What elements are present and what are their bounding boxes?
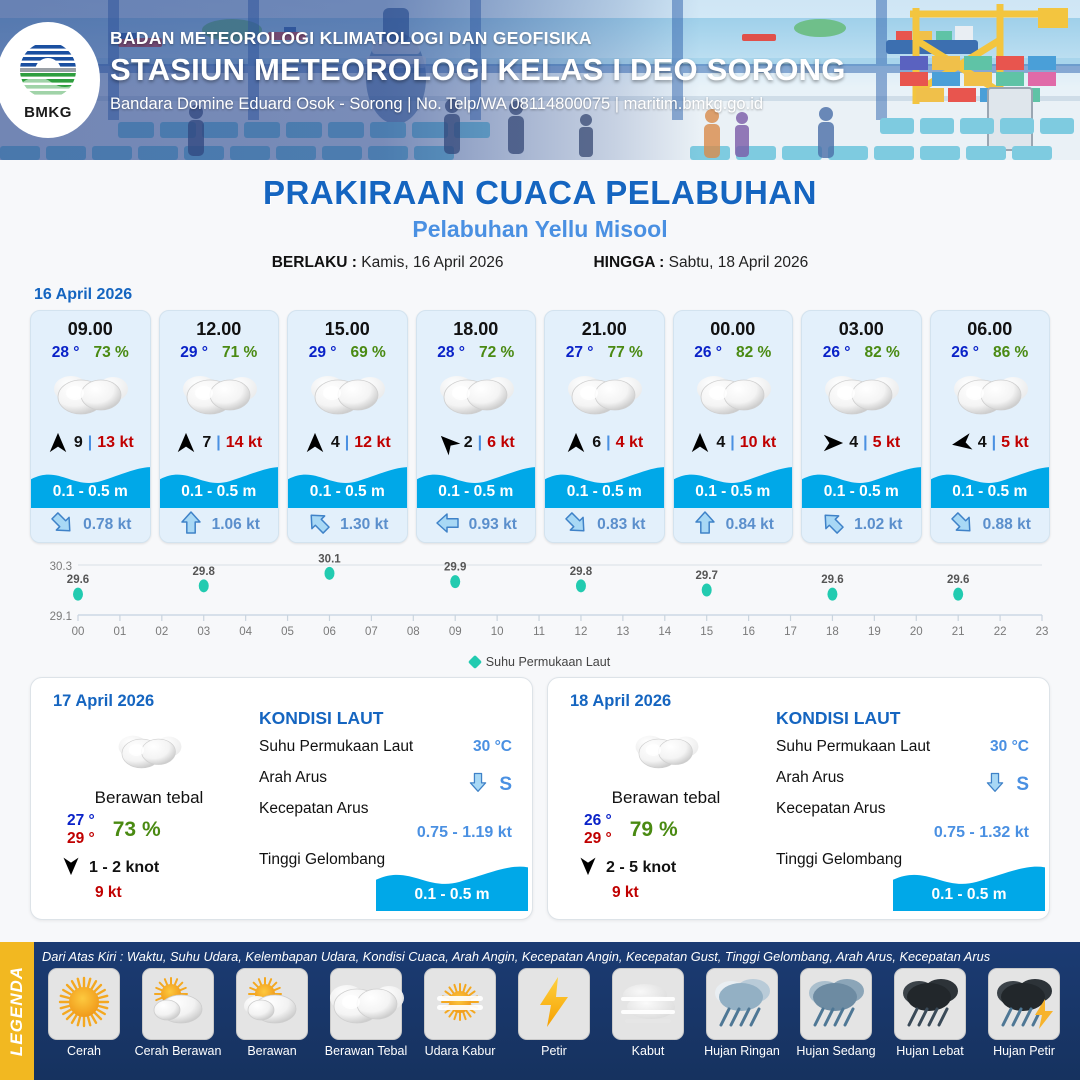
card-wind-separator: | xyxy=(992,434,996,452)
card-current-speed: 1.06 kt xyxy=(212,516,260,534)
legend-item-label: Petir xyxy=(541,1044,567,1058)
card-humidity: 73 % xyxy=(93,344,128,362)
page-subtitle: Pelabuhan Yellu Misool xyxy=(0,216,1080,243)
daily-humidity: 73 % xyxy=(113,818,161,842)
daily-temp-humidity: 26 ° 29 ° 79 % xyxy=(566,812,766,848)
title-block: PRAKIRAAN CUACA PELABUHAN Pelabuhan Yell… xyxy=(0,160,1080,272)
svg-text:15: 15 xyxy=(700,626,713,638)
card-time: 06.00 xyxy=(931,311,1050,340)
svg-text:18: 18 xyxy=(826,626,839,638)
legend-icon-box xyxy=(518,968,590,1040)
legend-item-label: Berawan xyxy=(247,1044,296,1058)
card-wind-separator: | xyxy=(216,434,220,452)
card-temperature: 26 ° xyxy=(823,344,851,362)
svg-text:29.8: 29.8 xyxy=(193,566,216,578)
svg-text:06: 06 xyxy=(323,626,336,638)
card-gust-speed: 5 kt xyxy=(873,434,901,452)
card-humidity: 77 % xyxy=(607,344,642,362)
card-humidity: 82 % xyxy=(736,344,771,362)
legend-icon-box xyxy=(142,968,214,1040)
card-gust-speed: 10 kt xyxy=(740,434,776,452)
legend-item: Hujan Lebat xyxy=(886,968,974,1058)
hourly-forecast-row: 09.00 28 ° 73 % 9 | 13 kt xyxy=(0,310,1080,543)
bmkg-logo: BMKG xyxy=(0,22,100,138)
legend-item-label: Cerah Berawan xyxy=(135,1044,222,1058)
legend-icon-box xyxy=(706,968,778,1040)
svg-text:21: 21 xyxy=(952,626,965,638)
svg-text:02: 02 xyxy=(155,626,168,638)
daily-wind-row: 2 - 5 knot xyxy=(566,856,766,881)
card-wind-speed: 6 xyxy=(592,434,601,452)
wind-direction-arrow-icon xyxy=(565,432,587,454)
card-current-speed: 0.83 kt xyxy=(597,516,645,534)
card-wind-separator: | xyxy=(863,434,867,452)
sun-icon xyxy=(57,975,111,1034)
current-direction-row: Arah Arus S xyxy=(259,769,518,791)
svg-text:14: 14 xyxy=(658,626,671,638)
card-current-speed: 0.88 kt xyxy=(983,516,1031,534)
card-temperature: 28 ° xyxy=(437,344,465,362)
daily-left-block: Berawan tebal 26 ° 29 ° 79 % 2 - 5 knot … xyxy=(566,722,766,902)
sst-legend-label: Suhu Permukaan Laut xyxy=(486,655,610,669)
legend-item-label: Udara Kabur xyxy=(425,1044,496,1058)
card-current-speed: 0.78 kt xyxy=(83,516,131,534)
hourly-card: 09.00 28 ° 73 % 9 | 13 kt xyxy=(30,310,151,543)
card-temp-hum: 26 ° 82 % xyxy=(674,344,793,362)
wind-direction-arrow-icon xyxy=(689,432,711,454)
svg-text:30.3: 30.3 xyxy=(50,561,72,573)
card-wind-row: 4 | 5 kt xyxy=(802,426,921,460)
card-wave-height: 0.1 - 0.5 m xyxy=(931,483,1050,501)
card-temperature: 28 ° xyxy=(52,344,80,362)
card-wind-row: 4 | 5 kt xyxy=(931,426,1050,460)
current-direction-arrow-icon xyxy=(984,771,1006,798)
card-wind-speed: 2 xyxy=(464,434,473,452)
legend-item: Petir xyxy=(510,968,598,1058)
svg-text:29.7: 29.7 xyxy=(696,570,718,582)
svg-text:10: 10 xyxy=(491,626,504,638)
valid-from: BERLAKU : Kamis, 16 April 2026 xyxy=(272,254,504,272)
daily-temps: 26 ° 29 ° xyxy=(584,812,612,848)
svg-text:29.9: 29.9 xyxy=(444,562,466,574)
current-direction-value-group: S xyxy=(467,771,512,798)
card-wave-band: 0.1 - 0.5 m xyxy=(417,460,536,508)
daily-weather-icon xyxy=(566,722,766,778)
card-wind-separator: | xyxy=(730,434,734,452)
daily-condition: Berawan tebal xyxy=(49,788,249,808)
daily-temps: 27 ° 29 ° xyxy=(67,812,95,848)
legend-side-bar: LEGENDA xyxy=(0,942,34,1080)
legend-item-label: Kabut xyxy=(632,1044,665,1058)
legend-note: Dari Atas Kiri : Waktu, Suhu Udara, Kele… xyxy=(42,949,1074,964)
card-temp-hum: 26 ° 86 % xyxy=(931,344,1050,362)
wind-direction-arrow-icon xyxy=(822,432,844,454)
card-wave-height: 0.1 - 0.5 m xyxy=(417,483,536,501)
card-time: 18.00 xyxy=(417,311,536,340)
card-current-row: 1.30 kt xyxy=(288,508,407,542)
legend-icon-box xyxy=(236,968,308,1040)
current-speed-value: 0.75 - 1.19 kt xyxy=(259,824,518,842)
legend-item: Hujan Petir xyxy=(980,968,1068,1058)
sea-conditions-title: KONDISI LAUT xyxy=(776,708,1035,729)
card-temperature: 26 ° xyxy=(694,344,722,362)
legend-item-label: Berawan Tebal xyxy=(325,1044,407,1058)
card-weather-icon xyxy=(288,362,407,424)
card-wave-band: 0.1 - 0.5 m xyxy=(802,460,921,508)
page-title: PRAKIRAAN CUACA PELABUHAN xyxy=(0,174,1080,212)
legend-item-label: Hujan Petir xyxy=(993,1044,1055,1058)
card-weather-icon xyxy=(417,362,536,424)
sst-row: Suhu Permukaan Laut 30 °C xyxy=(259,738,518,760)
fog-icon xyxy=(615,977,681,1032)
current-direction-value: S xyxy=(1016,774,1029,796)
current-direction-label: Arah Arus xyxy=(776,769,844,786)
card-current-row: 0.93 kt xyxy=(417,508,536,542)
card-temp-hum: 29 ° 71 % xyxy=(160,344,279,362)
thunderstorm-rain-icon xyxy=(989,973,1059,1036)
card-weather-icon xyxy=(674,362,793,424)
card-wind-row: 4 | 12 kt xyxy=(288,426,407,460)
card-wind-separator: | xyxy=(88,434,92,452)
card-temperature: 29 ° xyxy=(309,344,337,362)
current-speed-label: Kecepatan Arus xyxy=(776,800,885,817)
legend-icon-box xyxy=(612,968,684,1040)
sst-chart-legend: Suhu Permukaan Laut xyxy=(0,655,1080,669)
daily-wind-row: 1 - 2 knot xyxy=(49,856,249,881)
wind-direction-arrow-icon xyxy=(951,432,973,454)
daily-forecast-card: 17 April 2026 Berawan tebal 27 ° 29 ° xyxy=(30,677,533,920)
current-direction-arrow-icon xyxy=(467,771,489,798)
hourly-card: 21.00 27 ° 77 % 6 | 4 kt xyxy=(544,310,665,543)
daily-wave-value: 0.1 - 0.5 m xyxy=(376,886,528,904)
station-name: STASIUN METEOROLOGI KELAS I DEO SORONG xyxy=(110,52,1010,88)
legend-item-label: Hujan Ringan xyxy=(704,1044,780,1058)
card-current-row: 1.06 kt xyxy=(160,508,279,542)
svg-text:29.6: 29.6 xyxy=(67,574,89,586)
wind-direction-arrow-icon xyxy=(437,432,459,454)
card-temperature: 26 ° xyxy=(951,344,979,362)
card-temp-hum: 28 ° 73 % xyxy=(31,344,150,362)
daily-sea-block: KONDISI LAUT Suhu Permukaan Laut 30 °C A… xyxy=(259,708,518,873)
card-current-speed: 0.93 kt xyxy=(469,516,517,534)
card-weather-icon xyxy=(802,362,921,424)
card-time: 15.00 xyxy=(288,311,407,340)
svg-text:08: 08 xyxy=(407,626,420,638)
legend-item: Kabut xyxy=(604,968,692,1058)
card-gust-speed: 14 kt xyxy=(226,434,262,452)
svg-text:04: 04 xyxy=(239,626,252,638)
valid-until: HINGGA : Sabtu, 18 April 2026 xyxy=(593,254,808,272)
wave-height-label: Tinggi Gelombang xyxy=(259,851,385,868)
current-speed-row: Kecepatan Arus xyxy=(259,800,518,822)
sun-cloud-icon xyxy=(147,976,209,1033)
legend-item: Berawan xyxy=(228,968,316,1058)
svg-text:19: 19 xyxy=(868,626,881,638)
bmkg-logo-text: BMKG xyxy=(24,104,72,121)
card-wave-band: 0.1 - 0.5 m xyxy=(31,460,150,508)
card-wind-speed: 4 xyxy=(978,434,987,452)
card-wind-row: 9 | 13 kt xyxy=(31,426,150,460)
card-wind-speed: 7 xyxy=(202,434,211,452)
card-weather-icon xyxy=(931,362,1050,424)
svg-text:01: 01 xyxy=(114,626,127,638)
cloud-sun-partial-icon xyxy=(241,976,303,1033)
legend-section: LEGENDA Dari Atas Kiri : Waktu, Suhu Uda… xyxy=(0,942,1080,1080)
card-wave-band: 0.1 - 0.5 m xyxy=(160,460,279,508)
card-wave-height: 0.1 - 0.5 m xyxy=(674,483,793,501)
daily-sea-block: KONDISI LAUT Suhu Permukaan Laut 30 °C A… xyxy=(776,708,1035,873)
current-direction-value-group: S xyxy=(984,771,1029,798)
daily-forecast-row: 17 April 2026 Berawan tebal 27 ° 29 ° xyxy=(0,669,1080,920)
legend-icon-box xyxy=(894,968,966,1040)
cloud-thick-icon xyxy=(327,976,405,1033)
haze-icon xyxy=(431,976,489,1033)
daily-forecast-card: 18 April 2026 Berawan tebal 26 ° 29 ° xyxy=(547,677,1050,920)
daily-condition: Berawan tebal xyxy=(566,788,766,808)
svg-text:29.6: 29.6 xyxy=(821,574,843,586)
svg-text:09: 09 xyxy=(449,626,462,638)
daily-date: 18 April 2026 xyxy=(570,692,671,711)
card-gust-speed: 5 kt xyxy=(1001,434,1029,452)
card-wind-speed: 4 xyxy=(331,434,340,452)
svg-text:11: 11 xyxy=(533,626,545,638)
daily-temp-max: 29 ° xyxy=(584,830,612,848)
card-wind-row: 7 | 14 kt xyxy=(160,426,279,460)
current-speed-value: 0.75 - 1.32 kt xyxy=(776,824,1035,842)
card-wave-band: 0.1 - 0.5 m xyxy=(931,460,1050,508)
card-current-row: 0.83 kt xyxy=(545,508,664,542)
card-wave-height: 0.1 - 0.5 m xyxy=(31,483,150,501)
daily-wind-direction-icon xyxy=(61,856,81,881)
card-gust-speed: 12 kt xyxy=(354,434,390,452)
card-time: 12.00 xyxy=(160,311,279,340)
current-direction-arrow-icon xyxy=(949,510,975,541)
wind-direction-arrow-icon xyxy=(47,432,69,454)
svg-text:07: 07 xyxy=(365,626,378,638)
card-temperature: 29 ° xyxy=(180,344,208,362)
valid-until-label: HINGGA : xyxy=(593,254,664,271)
daily-wind-direction-icon xyxy=(578,856,598,881)
sst-label: Suhu Permukaan Laut xyxy=(776,738,930,755)
legend-item: Berawan Tebal xyxy=(322,968,410,1058)
svg-text:17: 17 xyxy=(784,626,797,638)
hourly-card: 18.00 28 ° 72 % 2 | 6 kt xyxy=(416,310,537,543)
card-humidity: 82 % xyxy=(864,344,899,362)
validity-row: BERLAKU : Kamis, 16 April 2026 HINGGA : … xyxy=(0,254,1080,272)
svg-text:29.1: 29.1 xyxy=(50,611,72,623)
sst-label: Suhu Permukaan Laut xyxy=(259,738,413,755)
current-direction-arrow-icon xyxy=(563,510,589,541)
daily-gust-speed: 9 kt xyxy=(49,884,249,902)
current-direction-label: Arah Arus xyxy=(259,769,327,786)
bmkg-logo-mark xyxy=(17,40,79,102)
sst-row: Suhu Permukaan Laut 30 °C xyxy=(776,738,1035,760)
wave-height-label: Tinggi Gelombang xyxy=(776,851,902,868)
daily-gust-speed: 9 kt xyxy=(566,884,766,902)
legend-item: Cerah Berawan xyxy=(134,968,222,1058)
svg-text:22: 22 xyxy=(994,626,1007,638)
card-temp-hum: 26 ° 82 % xyxy=(802,344,921,362)
card-wind-row: 4 | 10 kt xyxy=(674,426,793,460)
card-temp-hum: 29 ° 69 % xyxy=(288,344,407,362)
sst-chart: 30.329.100010203040506070809101112131415… xyxy=(30,551,1050,651)
daily-left-block: Berawan tebal 27 ° 29 ° 73 % 1 - 2 knot … xyxy=(49,722,249,902)
svg-text:03: 03 xyxy=(197,626,210,638)
wind-direction-arrow-icon xyxy=(304,432,326,454)
card-wave-band: 0.1 - 0.5 m xyxy=(674,460,793,508)
page-header: BMKG BADAN METEOROLOGI KLIMATOLOGI DAN G… xyxy=(0,0,1080,160)
svg-text:30.1: 30.1 xyxy=(318,553,341,565)
card-wave-height: 0.1 - 0.5 m xyxy=(802,483,921,501)
moderate-rain-icon xyxy=(801,973,871,1036)
current-direction-arrow-icon xyxy=(178,510,204,541)
card-wind-speed: 9 xyxy=(74,434,83,452)
hourly-card: 15.00 29 ° 69 % 4 | 12 kt xyxy=(287,310,408,543)
card-current-row: 0.88 kt xyxy=(931,508,1050,542)
sst-legend-marker-icon xyxy=(468,655,482,669)
legend-item: Cerah xyxy=(40,968,128,1058)
card-wind-separator: | xyxy=(478,434,482,452)
current-direction-arrow-icon xyxy=(692,510,718,541)
card-current-speed: 1.02 kt xyxy=(854,516,902,534)
daily-humidity: 79 % xyxy=(630,818,678,842)
card-gust-speed: 13 kt xyxy=(97,434,133,452)
current-direction-value: S xyxy=(499,774,512,796)
hourly-card: 03.00 26 ° 82 % 4 | 5 kt xyxy=(801,310,922,543)
hourly-card: 06.00 26 ° 86 % 4 | 5 kt xyxy=(930,310,1051,543)
daily-temp-humidity: 27 ° 29 ° 73 % xyxy=(49,812,249,848)
hourly-date-label: 16 April 2026 xyxy=(34,286,1080,304)
legend-item: Udara Kabur xyxy=(416,968,504,1058)
current-speed-label: Kecepatan Arus xyxy=(259,800,368,817)
svg-text:00: 00 xyxy=(72,626,85,638)
card-time: 00.00 xyxy=(674,311,793,340)
hourly-card: 00.00 26 ° 82 % 4 | 10 kt xyxy=(673,310,794,543)
contact-line: Bandara Domine Eduard Osok - Sorong | No… xyxy=(110,95,1010,114)
card-temp-hum: 27 ° 77 % xyxy=(545,344,664,362)
agency-name: BADAN METEOROLOGI KLIMATOLOGI DAN GEOFIS… xyxy=(110,28,1010,49)
card-wind-speed: 4 xyxy=(716,434,725,452)
card-weather-icon xyxy=(31,362,150,424)
svg-text:16: 16 xyxy=(742,626,755,638)
daily-temp-max: 29 ° xyxy=(67,830,95,848)
card-wave-height: 0.1 - 0.5 m xyxy=(545,483,664,501)
card-weather-icon xyxy=(160,362,279,424)
card-gust-speed: 4 kt xyxy=(616,434,644,452)
svg-text:23: 23 xyxy=(1036,626,1049,638)
current-direction-arrow-icon xyxy=(435,510,461,541)
card-weather-icon xyxy=(545,362,664,424)
daily-wind-speed: 2 - 5 knot xyxy=(606,859,676,877)
hourly-card: 12.00 29 ° 71 % 7 | 14 kt xyxy=(159,310,280,543)
daily-wind-speed: 1 - 2 knot xyxy=(89,859,159,877)
card-wind-speed: 4 xyxy=(849,434,858,452)
daily-wave-value: 0.1 - 0.5 m xyxy=(893,886,1045,904)
valid-from-label: BERLAKU : xyxy=(272,254,357,271)
legend-item-label: Cerah xyxy=(67,1044,101,1058)
card-current-row: 1.02 kt xyxy=(802,508,921,542)
card-wind-row: 6 | 4 kt xyxy=(545,426,664,460)
legend-item-label: Hujan Sedang xyxy=(796,1044,875,1058)
sst-value: 30 °C xyxy=(990,738,1029,756)
card-humidity: 72 % xyxy=(479,344,514,362)
header-text-block: BADAN METEOROLOGI KLIMATOLOGI DAN GEOFIS… xyxy=(110,28,1010,114)
card-current-speed: 0.84 kt xyxy=(726,516,774,534)
card-wave-height: 0.1 - 0.5 m xyxy=(160,483,279,501)
svg-text:29.8: 29.8 xyxy=(570,566,593,578)
svg-text:20: 20 xyxy=(910,626,923,638)
daily-weather-icon xyxy=(49,722,249,778)
card-humidity: 86 % xyxy=(993,344,1028,362)
sst-value: 30 °C xyxy=(473,738,512,756)
legend-items-row: Cerah Cerah Berawan xyxy=(40,968,1076,1058)
legend-item: Hujan Ringan xyxy=(698,968,786,1058)
valid-until-value: Sabtu, 18 April 2026 xyxy=(669,254,809,271)
card-wave-band: 0.1 - 0.5 m xyxy=(288,460,407,508)
svg-text:29.6: 29.6 xyxy=(947,574,969,586)
legend-icon-box xyxy=(424,968,496,1040)
svg-text:05: 05 xyxy=(281,626,294,638)
card-wind-separator: | xyxy=(606,434,610,452)
legend-item: Hujan Sedang xyxy=(792,968,880,1058)
card-time: 21.00 xyxy=(545,311,664,340)
daily-date: 17 April 2026 xyxy=(53,692,154,711)
lightning-icon xyxy=(534,975,574,1034)
current-direction-arrow-icon xyxy=(820,510,846,541)
card-current-speed: 1.30 kt xyxy=(340,516,388,534)
current-speed-row: Kecepatan Arus xyxy=(776,800,1035,822)
daily-wave-band: 0.1 - 0.5 m xyxy=(893,859,1045,911)
daily-wave-band: 0.1 - 0.5 m xyxy=(376,859,528,911)
card-time: 09.00 xyxy=(31,311,150,340)
card-temp-hum: 28 ° 72 % xyxy=(417,344,536,362)
legend-icon-box xyxy=(800,968,872,1040)
valid-from-value: Kamis, 16 April 2026 xyxy=(361,254,503,271)
card-wave-height: 0.1 - 0.5 m xyxy=(288,483,407,501)
legend-side-title: LEGENDA xyxy=(7,966,27,1056)
card-time: 03.00 xyxy=(802,311,921,340)
card-wind-row: 2 | 6 kt xyxy=(417,426,536,460)
card-temperature: 27 ° xyxy=(566,344,594,362)
current-direction-arrow-icon xyxy=(49,510,75,541)
light-rain-icon xyxy=(707,973,777,1036)
svg-text:12: 12 xyxy=(575,626,588,638)
card-current-row: 0.84 kt xyxy=(674,508,793,542)
current-direction-row: Arah Arus S xyxy=(776,769,1035,791)
card-wind-separator: | xyxy=(345,434,349,452)
current-direction-arrow-icon xyxy=(306,510,332,541)
wind-direction-arrow-icon xyxy=(175,432,197,454)
card-gust-speed: 6 kt xyxy=(487,434,515,452)
legend-icon-box xyxy=(330,968,402,1040)
legend-icon-box xyxy=(988,968,1060,1040)
card-humidity: 71 % xyxy=(222,344,257,362)
svg-text:13: 13 xyxy=(616,626,629,638)
card-current-row: 0.78 kt xyxy=(31,508,150,542)
card-humidity: 69 % xyxy=(350,344,385,362)
legend-item-label: Hujan Lebat xyxy=(896,1044,963,1058)
legend-icon-box xyxy=(48,968,120,1040)
sea-conditions-title: KONDISI LAUT xyxy=(259,708,518,729)
card-wave-band: 0.1 - 0.5 m xyxy=(545,460,664,508)
daily-temp-min: 26 ° xyxy=(584,812,612,830)
heavy-rain-icon xyxy=(895,973,965,1036)
daily-temp-min: 27 ° xyxy=(67,812,95,830)
